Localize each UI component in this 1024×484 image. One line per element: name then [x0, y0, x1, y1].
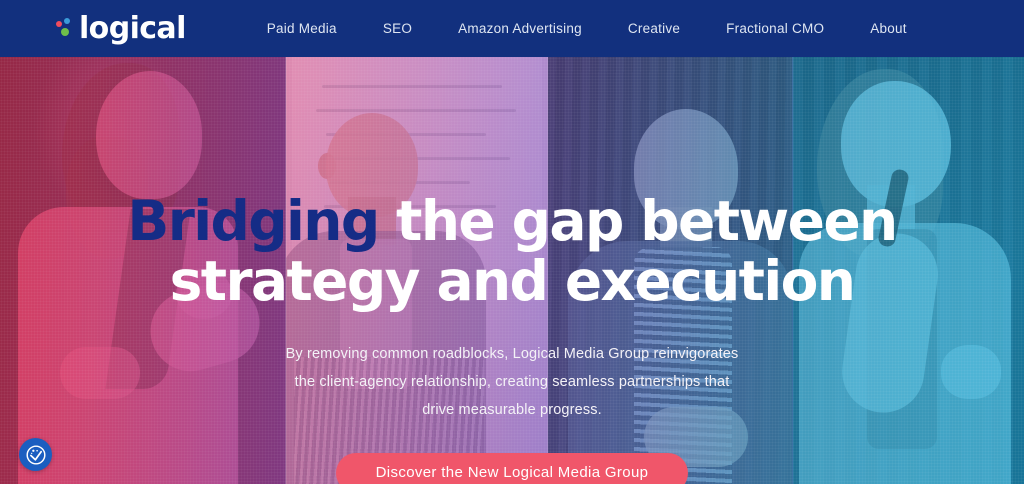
nav-item-fractional-cmo[interactable]: Fractional CMO — [703, 0, 847, 57]
hero-section: Bridging the gap between strategy and ex… — [0, 57, 1024, 484]
page-root: logical Paid Media SEO Amazon Advertisin… — [0, 0, 1024, 484]
logo-dots-icon — [56, 17, 76, 41]
logo-dot-green — [61, 28, 69, 36]
nav-item-amazon-advertising[interactable]: Amazon Advertising — [435, 0, 605, 57]
nav-item-about[interactable]: About — [847, 0, 930, 57]
accessibility-widget-button[interactable] — [19, 438, 52, 471]
hero-content: Bridging the gap between strategy and ex… — [0, 57, 1024, 484]
site-header: logical Paid Media SEO Amazon Advertisin… — [0, 0, 1024, 57]
nav-item-creative[interactable]: Creative — [605, 0, 703, 57]
accessibility-icon — [25, 444, 47, 466]
primary-nav: Paid Media SEO Amazon Advertising Creati… — [244, 0, 930, 57]
hero-headline: Bridging the gap between strategy and ex… — [62, 192, 962, 312]
nav-item-seo[interactable]: SEO — [360, 0, 435, 57]
logo-dot-blue — [64, 18, 70, 24]
nav-item-paid-media[interactable]: Paid Media — [244, 0, 360, 57]
logo-dot-red — [56, 21, 62, 27]
hero-subtext: By removing common roadblocks, Logical M… — [277, 340, 747, 425]
discover-cta-button[interactable]: Discover the New Logical Media Group — [336, 453, 689, 484]
site-logo[interactable]: logical — [56, 0, 186, 57]
logo-wordmark: logical — [79, 14, 186, 44]
headline-accent-word: Bridging — [127, 189, 378, 253]
